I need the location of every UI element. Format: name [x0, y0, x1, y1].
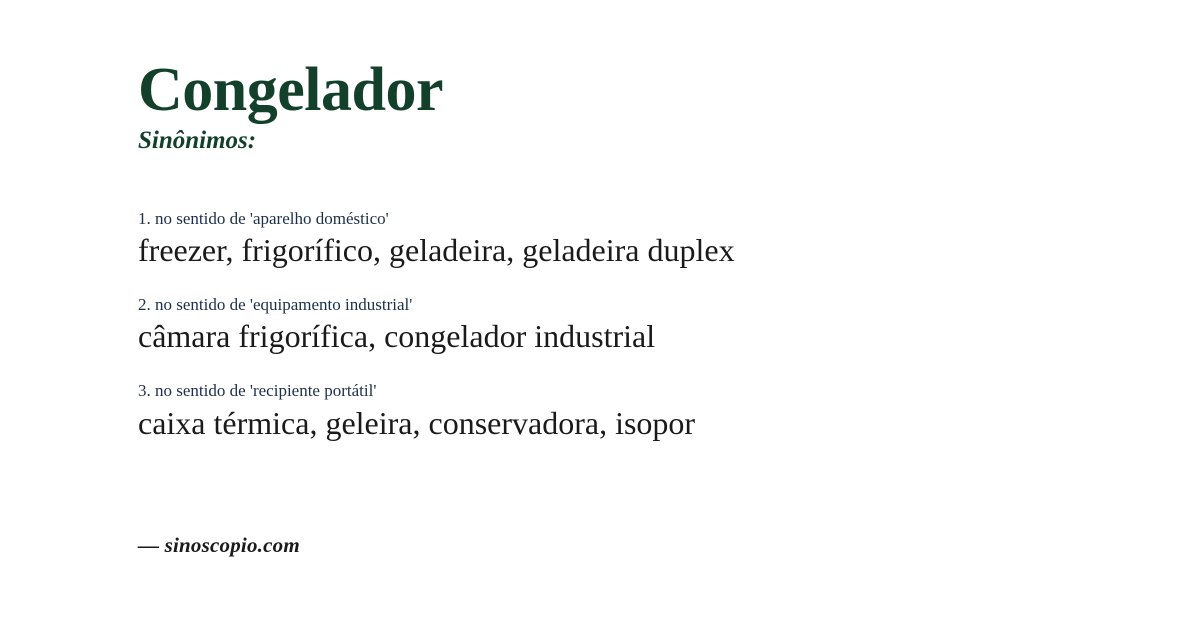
sense-synonyms-3: caixa térmica, geleira, conservadora, is… [138, 403, 1138, 444]
sense-entry-1: 1. no sentido de 'aparelho doméstico' fr… [138, 208, 1138, 271]
subtitle-synonyms: Sinônimos: [138, 127, 443, 155]
sense-synonyms-1: freezer, frigorífico, geladeira, geladei… [138, 230, 1138, 271]
source-attribution: — sinoscopio.com [138, 533, 300, 558]
sense-label-1: 1. no sentido de 'aparelho doméstico' [138, 208, 1138, 229]
sense-label-2: 2. no sentido de 'equipamento industrial… [138, 294, 1138, 315]
card-header: Congelador Sinônimos: [138, 58, 443, 155]
sense-entry-3: 3. no sentido de 'recipiente portátil' c… [138, 380, 1138, 443]
page-title: Congelador [138, 58, 443, 123]
synonym-card: Congelador Sinônimos: 1. no sentido de '… [0, 0, 1200, 628]
sense-synonyms-2: câmara frigorífica, congelador industria… [138, 316, 1138, 357]
sense-label-3: 3. no sentido de 'recipiente portátil' [138, 380, 1138, 401]
sense-entry-2: 2. no sentido de 'equipamento industrial… [138, 294, 1138, 357]
sense-list: 1. no sentido de 'aparelho doméstico' fr… [138, 208, 1138, 444]
